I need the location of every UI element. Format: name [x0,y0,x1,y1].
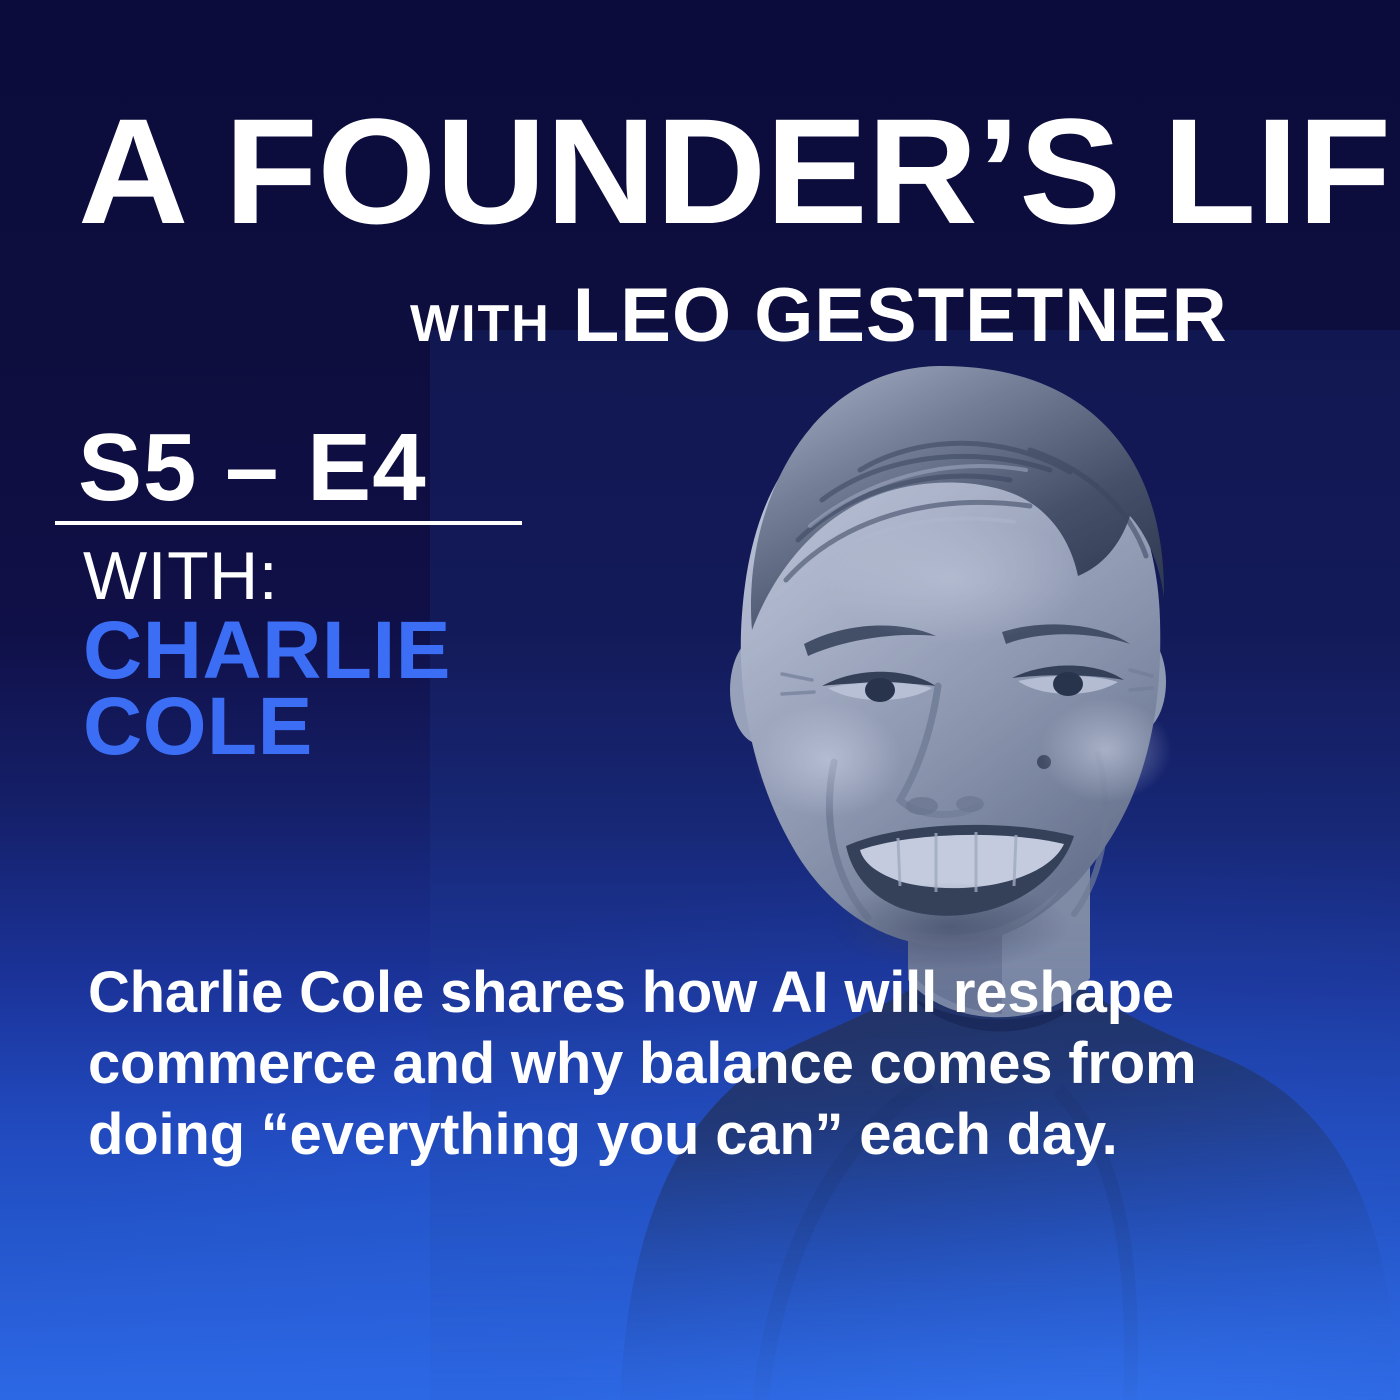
show-title: A FOUNDER’S LIFE [78,96,1353,246]
portrait-hair [751,366,1164,630]
guest-portrait [430,330,1400,1400]
episode-description: Charlie Cole shares how AI will reshape … [88,958,1248,1170]
episode-code: S5 – E4 [78,413,427,523]
host-credit-line: WITH LEO GESTETNER [410,272,1228,359]
podcast-cover-art: A FOUNDER’S LIFE WITH LEO GESTETNER S5 –… [0,0,1400,1400]
portrait-face [741,390,1161,946]
host-prefix-label: WITH [410,294,551,354]
host-name: LEO GESTETNER [573,272,1228,359]
guest-name: CHARLIE COLE [83,613,451,766]
section-divider [55,521,522,525]
guest-label: WITH: [83,537,278,615]
